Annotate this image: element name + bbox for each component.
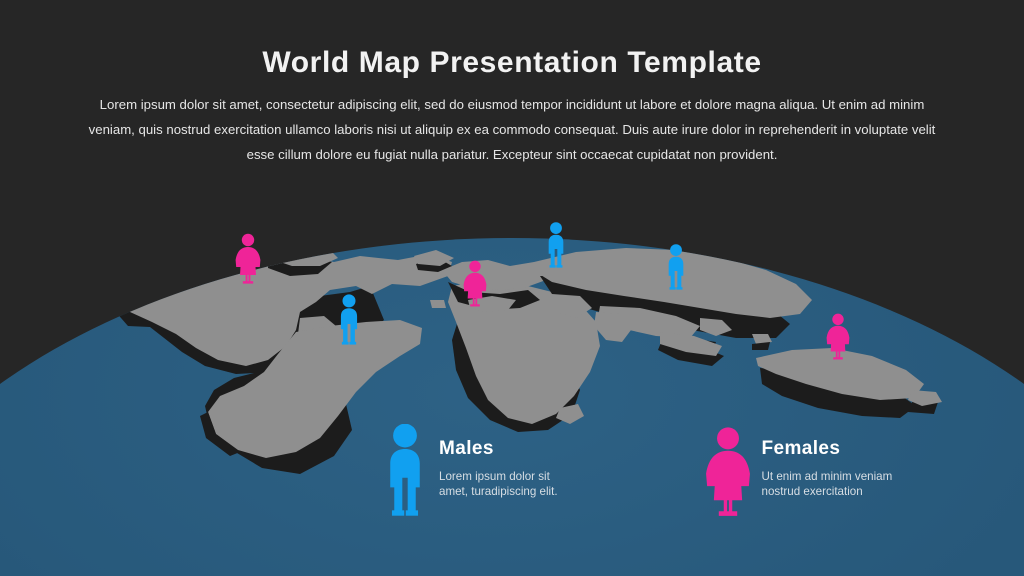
body-paragraph: Lorem ipsum dolor sit amet, consectetur … (77, 92, 947, 167)
legend-label-females: Females (762, 438, 903, 460)
legend-text-females: Females Ut enim ad minim veniam nostrud … (762, 424, 903, 499)
female-figure-icon (705, 424, 751, 520)
legend-description-males: Lorem ipsum dolor sit amet, turadipiscin… (439, 469, 580, 499)
legend-item-males[interactable]: Males Lorem ipsum dolor sit amet, turadi… (382, 424, 580, 520)
legend-label-males: Males (439, 438, 580, 460)
globe-sphere (0, 238, 1024, 576)
legend-description-females: Ut enim ad minim veniam nostrud exercita… (762, 469, 903, 499)
male-figure-icon (382, 424, 428, 520)
presentation-slide: World Map Presentation Template Lorem ip… (0, 0, 1024, 576)
legend-text-males: Males Lorem ipsum dolor sit amet, turadi… (439, 424, 580, 499)
globe-shading (0, 238, 1024, 576)
legend: Males Lorem ipsum dolor sit amet, turadi… (382, 424, 902, 520)
page-title: World Map Presentation Template (0, 46, 1024, 80)
legend-item-females[interactable]: Females Ut enim ad minim veniam nostrud … (705, 424, 903, 520)
